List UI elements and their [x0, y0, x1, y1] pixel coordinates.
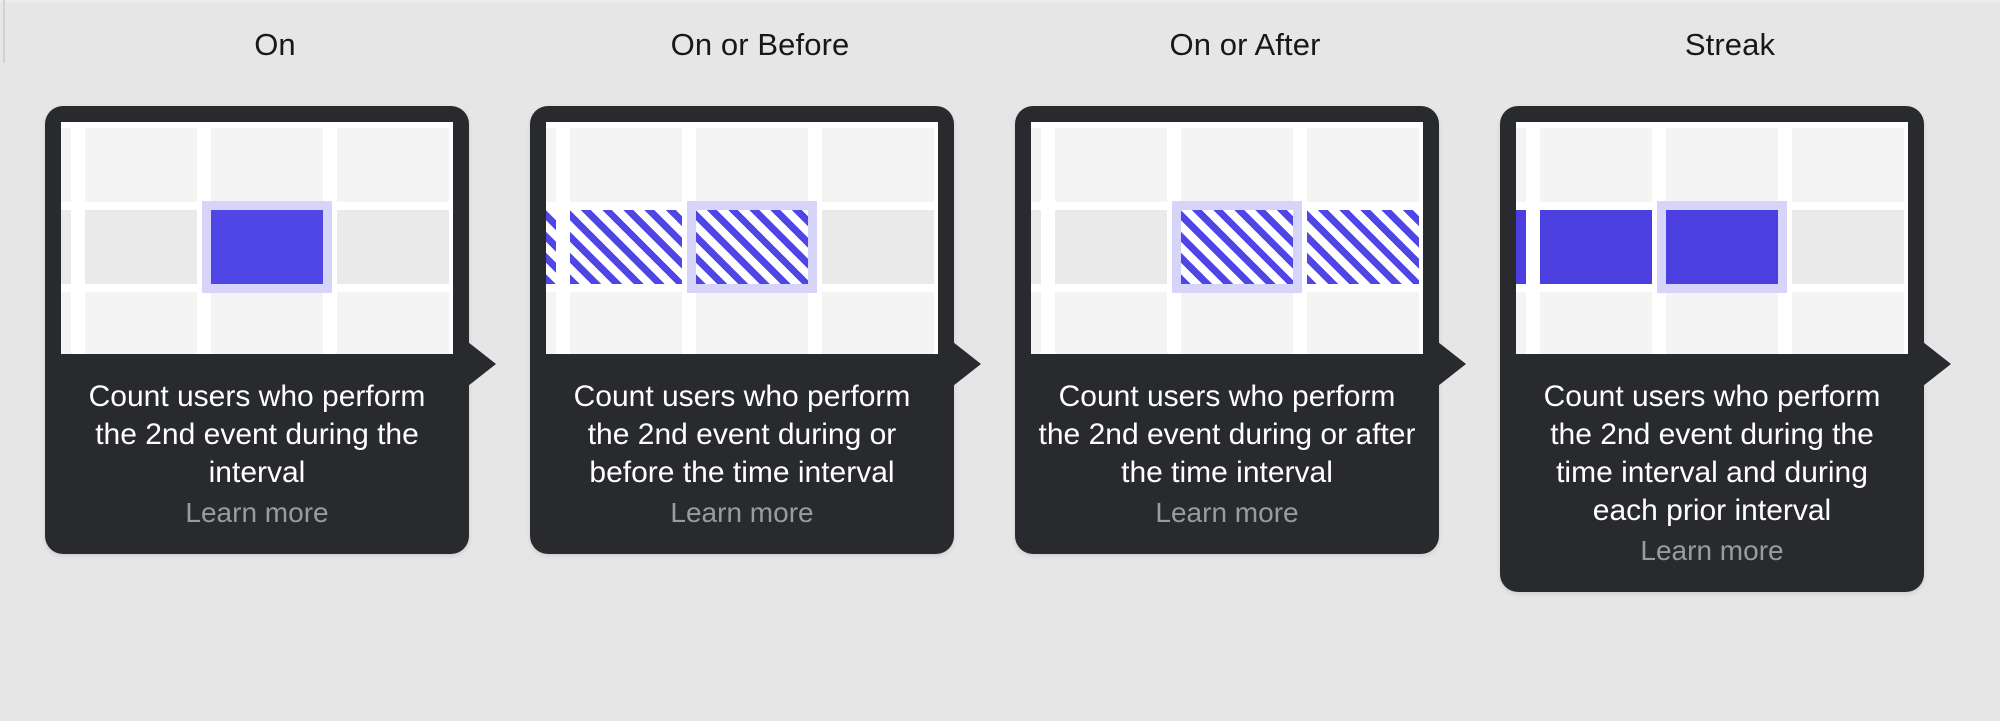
learn-more-link-on[interactable]: Learn more — [61, 494, 453, 532]
card-on-or-before[interactable]: Count users who perform the 2nd event du… — [530, 106, 954, 554]
diagram-on-or-after — [1031, 122, 1423, 354]
card-on[interactable]: Count users who perform the 2nd event du… — [45, 106, 469, 554]
event-block — [1516, 210, 1526, 284]
column-header-streak: Streak — [1500, 26, 1960, 64]
card-description-on-or-after: Count users who perform the 2nd event du… — [1031, 378, 1423, 492]
card-body-streak: Count users who perform the 2nd event du… — [1500, 106, 1924, 592]
card-body-on-or-after: Count users who perform the 2nd event du… — [1015, 106, 1439, 554]
card-tail-icon — [1923, 342, 1951, 386]
card-streak[interactable]: Count users who perform the 2nd event du… — [1500, 106, 1924, 592]
event-block — [211, 210, 323, 284]
event-block-selected — [1181, 210, 1293, 284]
event-block — [546, 210, 556, 284]
card-description-on-or-before: Count users who perform the 2nd event du… — [546, 378, 938, 492]
event-block-selected — [696, 210, 808, 284]
card-description-streak: Count users who perform the 2nd event du… — [1516, 378, 1908, 530]
card-body-on-or-before: Count users who perform the 2nd event du… — [530, 106, 954, 554]
card-tail-icon — [953, 342, 981, 386]
card-tail-icon — [1438, 342, 1466, 386]
event-block — [570, 210, 682, 284]
learn-more-link-on-or-after[interactable]: Learn more — [1031, 494, 1423, 532]
event-block — [1307, 210, 1419, 284]
learn-more-link-streak[interactable]: Learn more — [1516, 532, 1908, 570]
top-sheen — [0, 0, 2000, 4]
column-header-on: On — [45, 26, 505, 64]
card-description-on: Count users who perform the 2nd event du… — [61, 378, 453, 492]
left-divider-rule — [3, 0, 5, 63]
column-header-on-or-before: On or Before — [530, 26, 990, 64]
card-on-or-after[interactable]: Count users who perform the 2nd event du… — [1015, 106, 1439, 554]
card-body-on: Count users who perform the 2nd event du… — [45, 106, 469, 554]
column-header-on-or-after: On or After — [1015, 26, 1475, 64]
diagram-on-or-before — [546, 122, 938, 354]
comparison-panel: On — [0, 0, 2000, 721]
event-block — [1540, 210, 1652, 284]
diagram-on — [61, 122, 453, 354]
learn-more-link-on-or-before[interactable]: Learn more — [546, 494, 938, 532]
diagram-streak — [1516, 122, 1908, 354]
card-tail-icon — [468, 342, 496, 386]
event-block-selected — [1666, 210, 1778, 284]
